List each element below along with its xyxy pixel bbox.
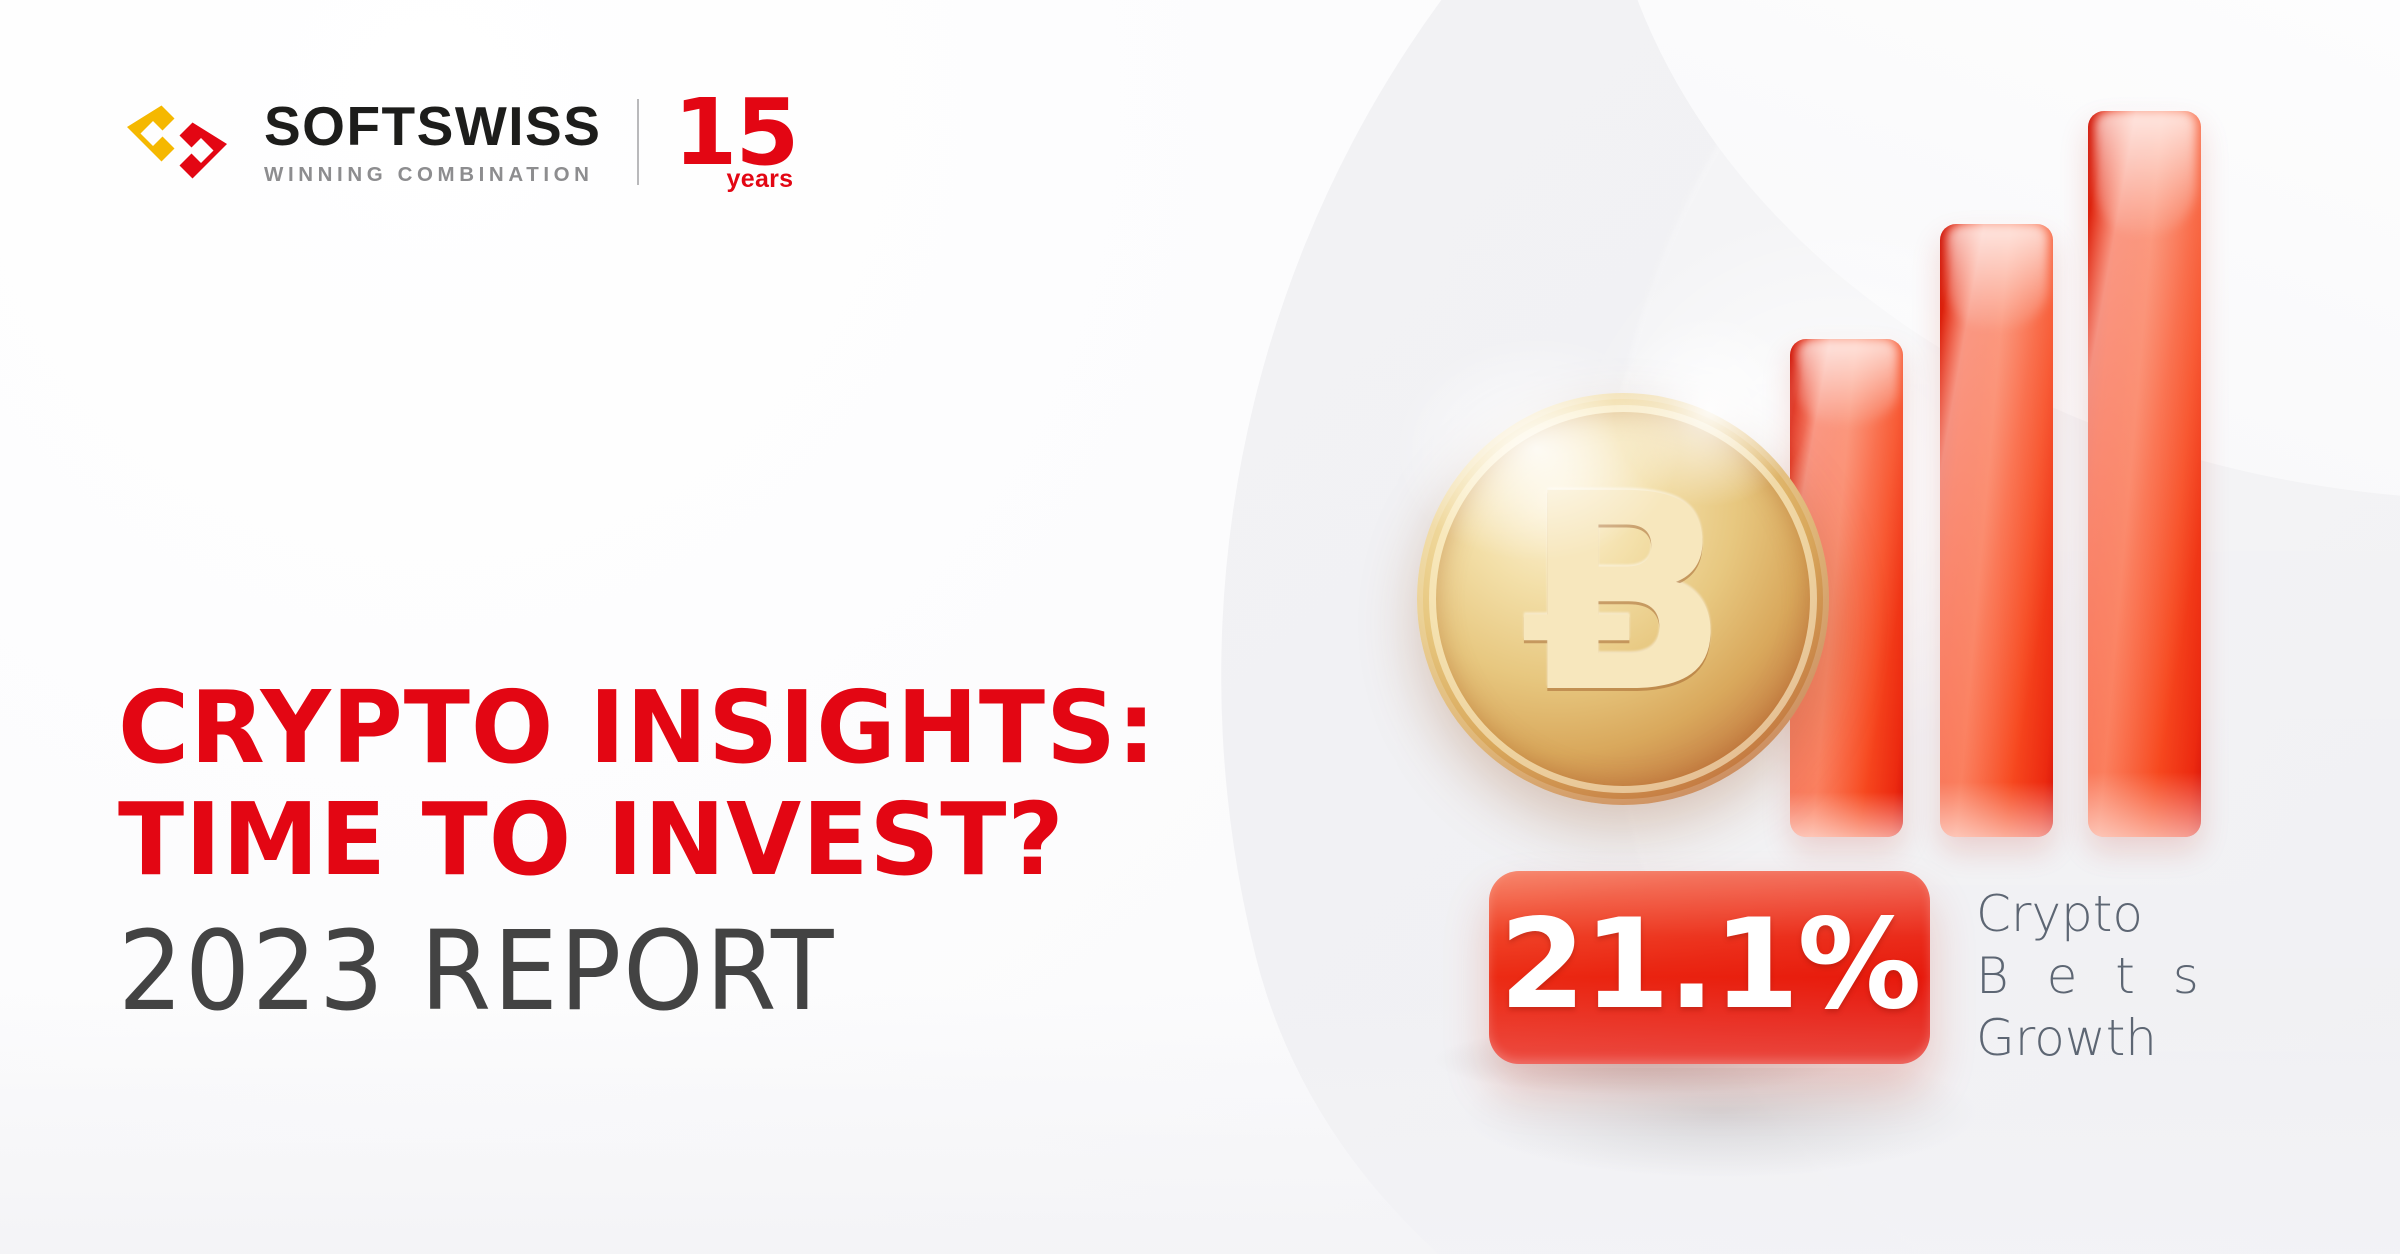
stat-caption-line-3: Growth xyxy=(1976,1007,2210,1069)
poster-canvas: SOFTSWISS WINNING COMBINATION 15 years C… xyxy=(0,0,2400,1254)
report-subtitle: 2023 REPORT xyxy=(118,914,1215,1030)
anniversary-unit: years xyxy=(727,165,794,194)
softswiss-wordmark: SOFTSWISS WINNING COMBINATION xyxy=(264,99,601,186)
headline-line-1: CRYPTO INSIGHTS: xyxy=(118,672,1263,784)
stat-caption-line-2: B e t s xyxy=(1976,945,2210,1007)
anniversary-badge: 15 years xyxy=(673,94,793,190)
softswiss-logomark-icon xyxy=(118,100,236,184)
headline-block: CRYPTO INSIGHTS: TIME TO INVEST? 2023 RE… xyxy=(118,672,1298,1030)
logo-divider xyxy=(637,99,639,185)
stat-caption: Crypto B e t s Growth xyxy=(1976,883,2210,1069)
chart-bar-2 xyxy=(1940,224,2053,837)
anniversary-number: 15 xyxy=(673,94,793,171)
brand-name: SOFTSWISS xyxy=(264,99,601,154)
stat-caption-line-1: Crypto xyxy=(1976,883,2210,945)
brand-tagline: WINNING COMBINATION xyxy=(264,165,601,186)
growth-percentage-value: 21.1% xyxy=(1499,903,1919,1027)
growth-percentage-badge: 21.1% xyxy=(1489,871,1930,1064)
softswiss-logo[interactable]: SOFTSWISS WINNING COMBINATION 15 years xyxy=(118,94,793,190)
headline-line-2: TIME TO INVEST? xyxy=(118,784,1263,896)
badge-drop-shadow xyxy=(1460,1068,1980,1178)
coin-sparkle xyxy=(1600,300,1820,520)
chart-bar-3 xyxy=(2088,111,2201,837)
